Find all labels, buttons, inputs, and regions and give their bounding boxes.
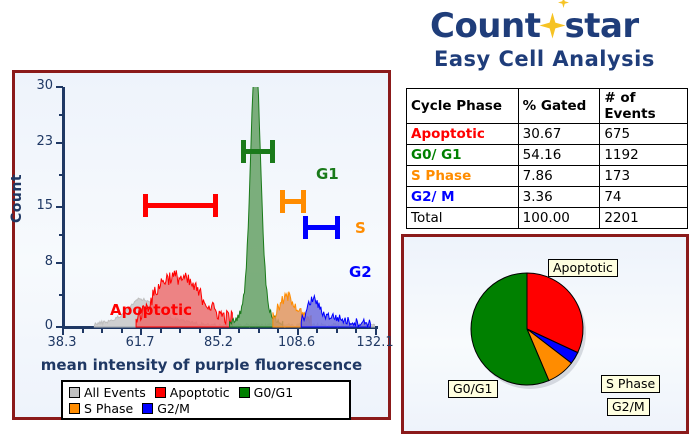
x-tick-label: 108.6	[278, 335, 315, 350]
x-minor-tick	[277, 329, 279, 333]
logo-star-text: star	[564, 6, 638, 46]
histogram-plot-area	[62, 87, 375, 327]
gate-handle-right[interactable]	[301, 190, 306, 213]
cell-cycle-phase: Total	[407, 208, 519, 229]
x-minor-tick	[199, 329, 201, 333]
x-minor-tick	[82, 329, 84, 333]
logo-count-text: Count	[430, 6, 540, 46]
cell-cycle-phase: Apoptotic	[407, 124, 519, 145]
cell-pct-gated: 54.16	[518, 145, 600, 166]
x-minor-tick	[316, 329, 318, 333]
cell-cycle-phase: G2/ M	[407, 187, 519, 208]
legend-swatch-icon	[142, 403, 153, 414]
legend-item: G2/M	[142, 400, 190, 416]
cell-num-events: 675	[600, 124, 688, 145]
trace-g0g1	[230, 87, 283, 327]
legend-swatch-icon	[69, 403, 80, 414]
countstar-logo: Countstar Easy Cell Analysis	[408, 6, 688, 80]
table-row: S Phase7.86173	[407, 166, 688, 187]
histogram-legend: All EventsApoptoticG0/G1S PhaseG2/M	[61, 380, 351, 420]
gate-bar[interactable]	[143, 203, 218, 208]
table-body: Apoptotic30.67675G0/ G154.161192S Phase7…	[407, 124, 688, 229]
table-row: Total100.002201	[407, 208, 688, 229]
x-tick-label: 85.2	[204, 335, 233, 350]
histogram-traces	[62, 87, 375, 328]
gate-marker-apoptotic[interactable]	[143, 194, 218, 217]
legend-label: All Events	[84, 385, 146, 400]
header-num-events: # of Events	[600, 89, 688, 124]
x-minor-tick	[238, 329, 240, 333]
pie-chart-panel: ApoptoticG0/G1S PhaseG2/M	[401, 234, 689, 434]
x-minor-tick	[258, 329, 260, 333]
logo-tagline: Easy Cell Analysis	[408, 46, 688, 72]
gate-handle-right[interactable]	[270, 140, 275, 163]
cell-cycle-phase: G0/ G1	[407, 145, 519, 166]
table-row: Apoptotic30.67675	[407, 124, 688, 145]
legend-swatch-icon	[69, 387, 80, 398]
legend-label: G0/G1	[254, 385, 294, 400]
legend-item: All Events	[69, 384, 146, 400]
table-row: G0/ G154.161192	[407, 145, 688, 166]
gate-marker-g0-g1[interactable]	[241, 140, 274, 163]
x-tick-label: 38.3	[48, 335, 77, 350]
histogram-panel: Count mean intensity of purple fluoresce…	[12, 70, 391, 420]
gate-marker-s-phase[interactable]	[280, 190, 307, 213]
pie-label-apoptotic: Apoptotic	[548, 259, 618, 277]
legend-item: S Phase	[69, 400, 133, 416]
y-tick-label: 8	[15, 254, 53, 269]
x-minor-tick	[101, 329, 103, 333]
cell-cycle-phase: S Phase	[407, 166, 519, 187]
table-header-row: Cycle Phase % Gated # of Events	[407, 89, 688, 124]
cell-pct-gated: 30.67	[518, 124, 600, 145]
x-minor-tick	[160, 329, 162, 333]
gate-label-s-phase: S	[355, 219, 366, 237]
cycle-phase-table: Cycle Phase % Gated # of Events Apoptoti…	[406, 88, 688, 229]
legend-label: G2/M	[157, 401, 190, 416]
legend-swatch-icon	[155, 387, 166, 398]
gate-marker-g2-m[interactable]	[303, 216, 340, 239]
legend-item: Apoptotic	[155, 384, 230, 400]
pie-label-g0-g1: G0/G1	[448, 380, 498, 398]
x-tick-label: 132.1	[356, 335, 393, 350]
cell-pct-gated: 7.86	[518, 166, 600, 187]
gate-label-apoptotic: Apoptotic	[110, 301, 192, 319]
y-tick-label: 15	[15, 198, 53, 213]
pie-chart-area: ApoptoticG0/G1S PhaseG2/M	[404, 237, 686, 431]
legend-item: G0/G1	[239, 384, 294, 400]
star-big-icon	[539, 13, 565, 39]
gate-label-g0-g1: G1	[316, 165, 339, 183]
cell-num-events: 1192	[600, 145, 688, 166]
pie-label-g2-m: G2/M	[607, 398, 650, 416]
x-tick-label: 61.7	[126, 335, 155, 350]
gate-handle-right[interactable]	[213, 194, 218, 217]
header-cycle-phase: Cycle Phase	[407, 89, 519, 124]
y-tick-label: 23	[15, 134, 53, 149]
cell-pct-gated: 3.36	[518, 187, 600, 208]
cell-num-events: 173	[600, 166, 688, 187]
y-tick-label: 0	[15, 318, 53, 333]
app-root: Count mean intensity of purple fluoresce…	[0, 0, 695, 445]
x-minor-tick	[121, 329, 123, 333]
logo-wordmark: Countstar	[408, 6, 688, 46]
gate-handle-right[interactable]	[335, 216, 340, 239]
legend-label: S Phase	[84, 401, 133, 416]
y-tick-label: 30	[15, 78, 53, 93]
header-pct-gated: % Gated	[518, 89, 600, 124]
cell-num-events: 2201	[600, 208, 688, 229]
legend-swatch-icon	[239, 387, 250, 398]
x-minor-tick	[179, 329, 181, 333]
x-minor-tick	[355, 329, 357, 333]
cell-num-events: 74	[600, 187, 688, 208]
x-minor-tick	[336, 329, 338, 333]
trace-g2m	[301, 296, 370, 327]
table-row: G2/ M3.3674	[407, 187, 688, 208]
legend-label: Apoptotic	[170, 385, 230, 400]
pie-label-s-phase: S Phase	[601, 375, 660, 393]
x-axis-title: mean intensity of purple fluorescence	[15, 356, 388, 374]
cell-pct-gated: 100.00	[518, 208, 600, 229]
gate-label-g2-m: G2	[349, 263, 372, 281]
